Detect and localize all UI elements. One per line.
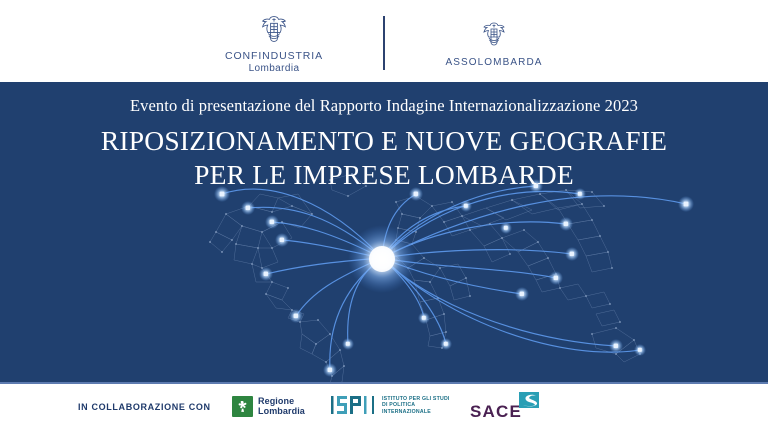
page-title-line-2: PER LE IMPRESE LOMBARDE (0, 158, 768, 192)
regione-lombardia-rosa-camuna-icon (232, 396, 253, 417)
logo-ispi: ISTITUTO PER GLI STUDI DI POLITICA INTER… (330, 394, 450, 416)
main-navy-panel: Evento di presentazione del Rapporto Ind… (0, 82, 768, 382)
regione-lombardia-wordmark: Regione Lombardia (258, 397, 305, 416)
sace-swoosh-icon (519, 392, 539, 408)
logo-regione-lombardia: Regione Lombardia (232, 396, 305, 417)
logo-assolombarda-name: ASSOLOMBARDA (445, 57, 542, 68)
logo-assolombarda: ASSOLOMBARDA (419, 19, 569, 68)
event-subtitle: Evento di presentazione del Rapporto Ind… (0, 96, 768, 116)
ispi-wordmark-icon (330, 394, 377, 416)
logo-divider (383, 16, 385, 70)
presentation-slide: CONFINDUSTRIA Lombardia ASSOLOMBARDA (0, 0, 768, 432)
logo-sace: SACE (470, 392, 542, 424)
rosa-camuna-glyph-icon (235, 399, 250, 414)
logo-confindustria-sub: Lombardia (249, 63, 300, 74)
header-logo-band: CONFINDUSTRIA Lombardia ASSOLOMBARDA (0, 0, 768, 82)
header-logo-row: CONFINDUSTRIA Lombardia ASSOLOMBARDA (199, 12, 569, 74)
map-hub-glow (348, 225, 416, 293)
regione-lombardia-line-2: Lombardia (258, 407, 305, 417)
logo-confindustria-lombardia: CONFINDUSTRIA Lombardia (199, 12, 349, 74)
sace-wordmark: SACE (470, 402, 522, 422)
assolombarda-eagle-emblem-icon (479, 19, 509, 49)
page-title: RIPOSIZIONAMENTO E NUOVE GEOGRAFIE PER L… (0, 124, 768, 192)
ispi-tagline-line-3: INTERNAZIONALE (382, 409, 450, 415)
ispi-tagline: ISTITUTO PER GLI STUDI DI POLITICA INTER… (382, 395, 450, 415)
logo-confindustria-name: CONFINDUSTRIA (225, 50, 323, 62)
collaboration-label: IN COLLABORAZIONE CON (78, 402, 211, 412)
confindustria-eagle-emblem-icon (257, 12, 291, 46)
page-title-line-1: RIPOSIZIONAMENTO E NUOVE GEOGRAFIE (0, 124, 768, 158)
